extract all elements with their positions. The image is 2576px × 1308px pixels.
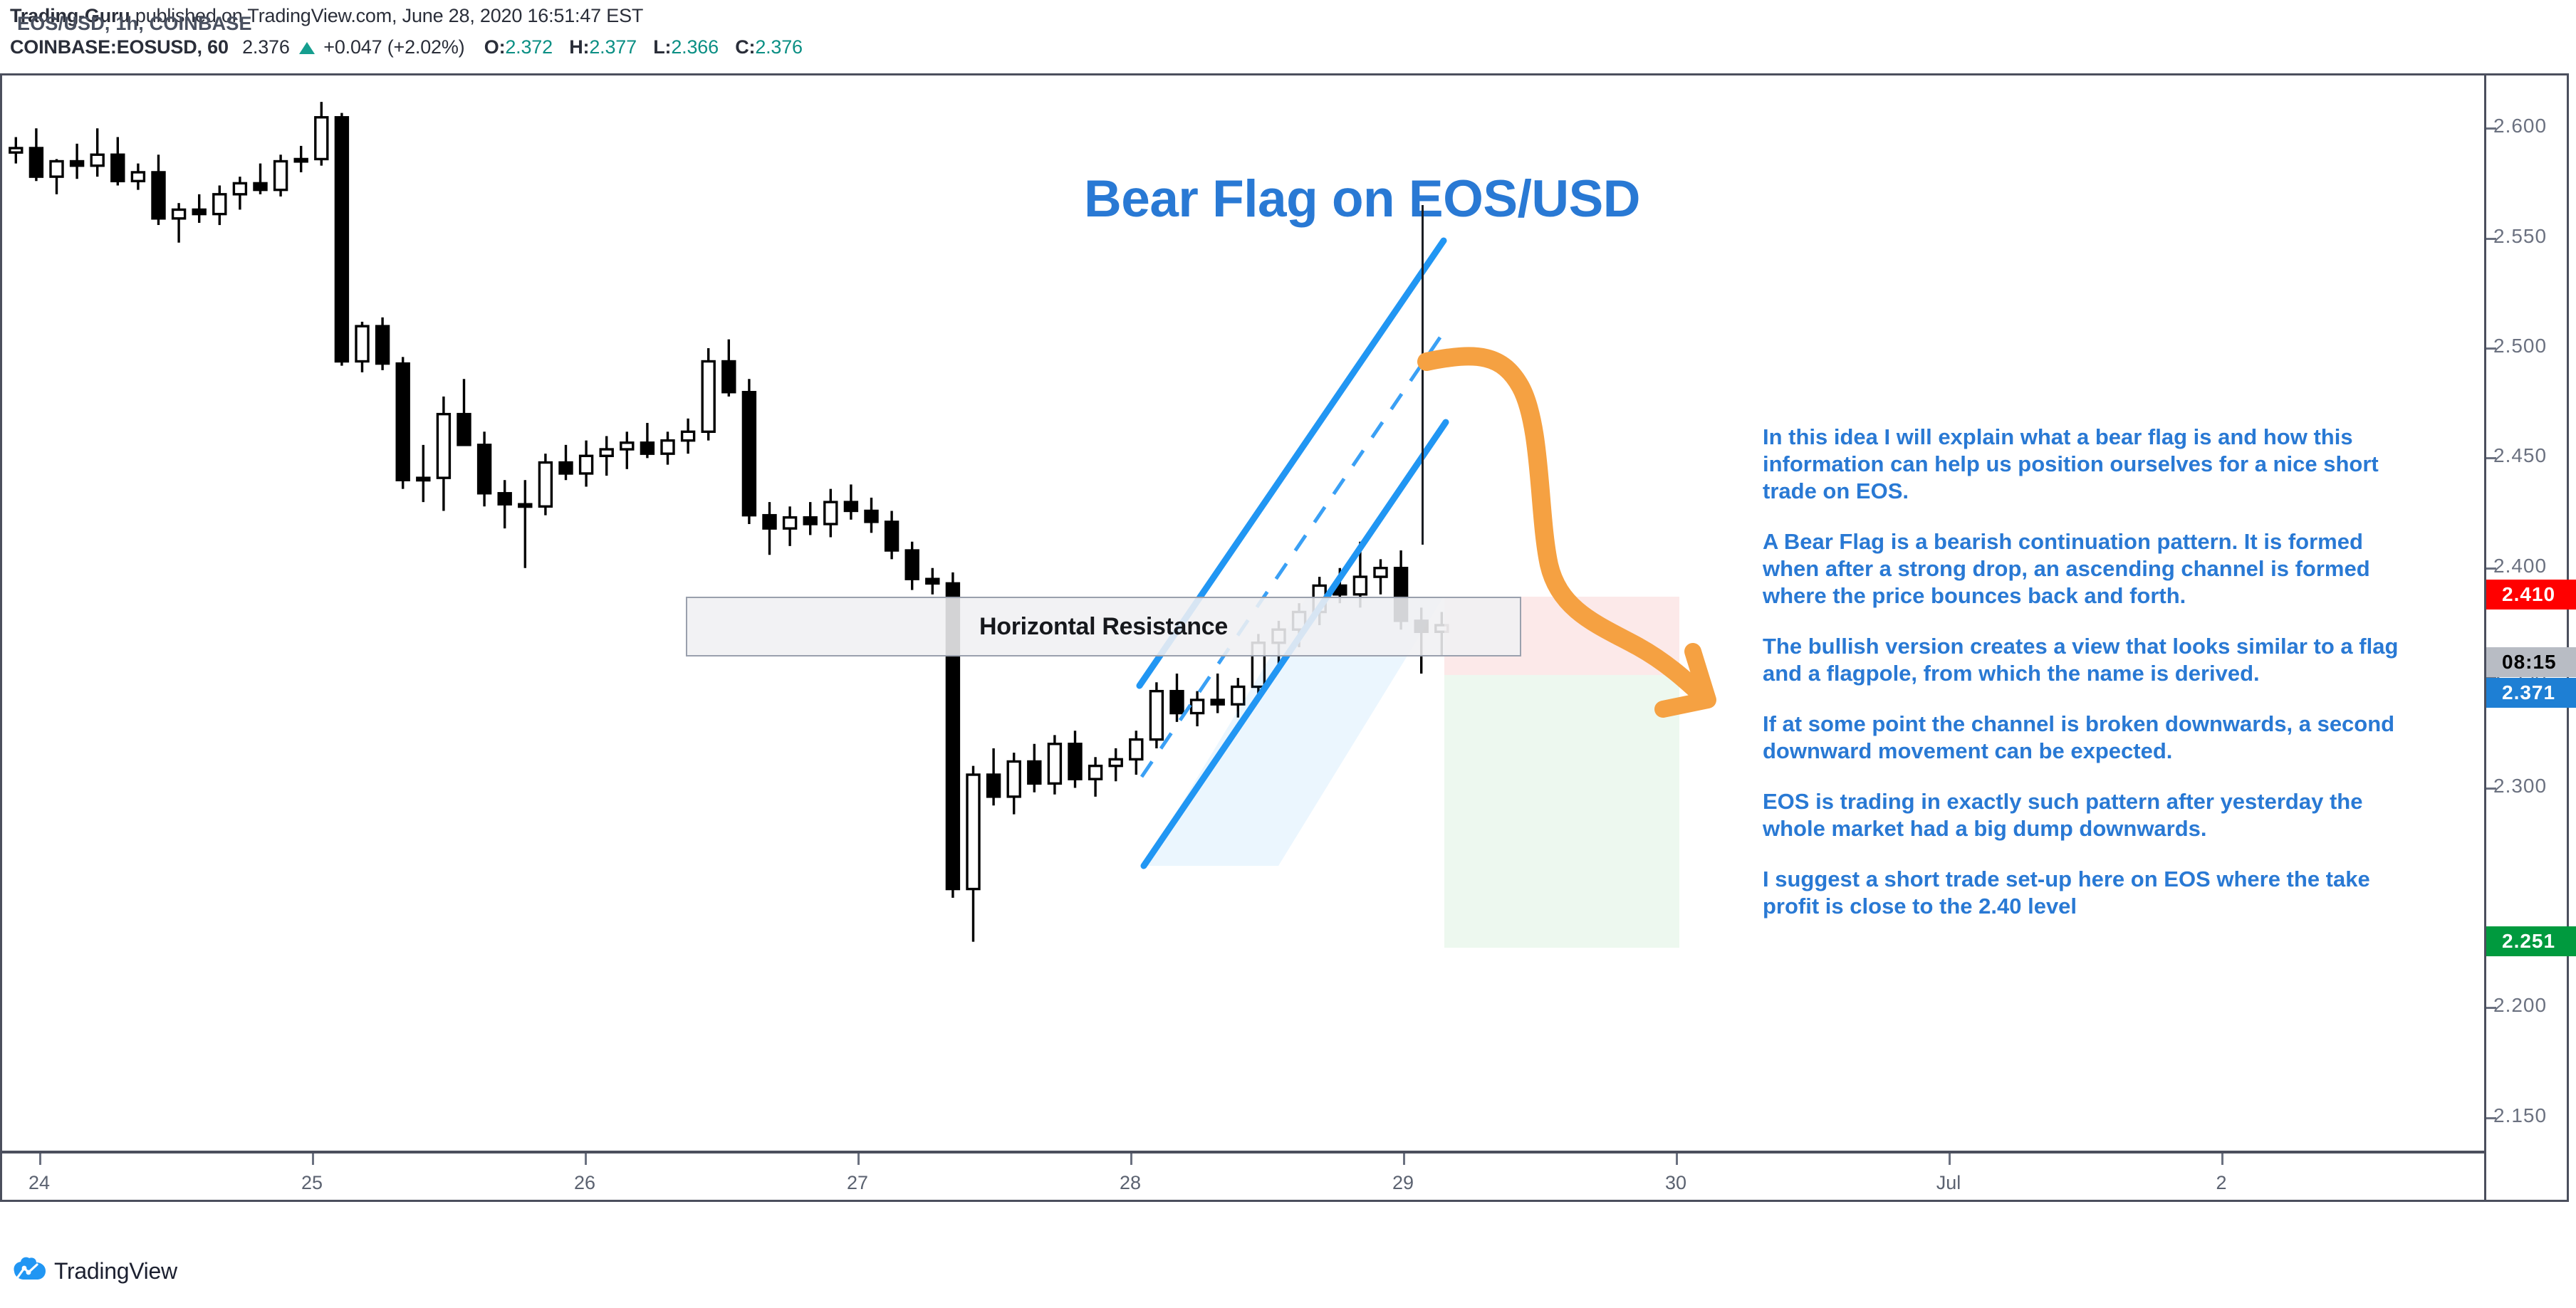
time-tick-label: 30	[1665, 1172, 1686, 1194]
time-tick-label: 29	[1392, 1172, 1414, 1194]
chart-legend: EOS/USD, 1h, COINBASE	[17, 13, 252, 35]
high-value: 2.377	[589, 36, 637, 58]
price-tick-label: 2.550	[2493, 225, 2547, 248]
time-tick-label: 26	[574, 1172, 595, 1194]
price-change: +0.047 (+2.02%)	[323, 36, 464, 58]
price-tick-label: 2.150	[2493, 1104, 2547, 1127]
note-paragraph: If at some point the channel is broken d…	[1763, 711, 2404, 765]
price-tick-label: 2.300	[2493, 775, 2547, 797]
low-value: 2.366	[671, 36, 719, 58]
note-paragraph: The bullish version creates a view that …	[1763, 633, 2404, 687]
time-tick-label: 2	[2216, 1172, 2226, 1194]
time-tick-label: Jul	[1936, 1172, 1961, 1194]
last-price: 2.376	[242, 36, 290, 58]
time-tick	[585, 1153, 587, 1165]
time-axis[interactable]: 24252627282930Jul2	[0, 1151, 2484, 1202]
price-tick-label: 2.200	[2493, 994, 2547, 1017]
low-label: L:	[653, 36, 671, 58]
time-tick-label: 25	[301, 1172, 323, 1194]
idea-description-text: In this idea I will explain what a bear …	[1763, 424, 2404, 943]
price-tick-label: 2.500	[2493, 335, 2547, 357]
price-tick-label: 2.400	[2493, 555, 2547, 577]
target-level-badge[interactable]: 2.251	[2486, 926, 2576, 956]
time-badge-badge[interactable]: 08:15	[2486, 647, 2576, 677]
note-paragraph: In this idea I will explain what a bear …	[1763, 424, 2404, 505]
price-axis[interactable]: 2.6002.5502.5002.4502.4002.3502.3002.200…	[2484, 73, 2574, 1202]
tradingview-footer[interactable]: TradingView	[13, 1257, 177, 1285]
time-tick	[1949, 1153, 1951, 1165]
current-price-badge[interactable]: 2.371	[2486, 678, 2576, 708]
close-label: C:	[735, 36, 755, 58]
time-tick-label: 28	[1120, 1172, 1141, 1194]
time-tick-label: 24	[28, 1172, 50, 1194]
time-tick	[857, 1153, 860, 1165]
horizontal-resistance-label: Horizontal Resistance	[686, 597, 1521, 656]
symbol-quote-bar: COINBASE:EOSUSD, 60 2.376 +0.047 (+2.02%…	[10, 36, 803, 58]
note-paragraph: A Bear Flag is a bearish continuation pa…	[1763, 528, 2404, 609]
symbol-label: COINBASE:EOSUSD, 60	[10, 36, 229, 58]
time-tick	[39, 1153, 41, 1165]
close-value: 2.376	[755, 36, 803, 58]
time-tick-label: 27	[847, 1172, 868, 1194]
time-tick	[312, 1153, 314, 1165]
price-tick-label: 2.600	[2493, 115, 2547, 137]
tradingview-wordmark: TradingView	[54, 1258, 177, 1285]
time-tick	[1130, 1153, 1132, 1165]
high-label: H:	[569, 36, 589, 58]
time-tick	[1676, 1153, 1678, 1165]
price-tick-label: 2.450	[2493, 444, 2547, 467]
time-tick	[1403, 1153, 1405, 1165]
note-paragraph: EOS is trading in exactly such pattern a…	[1763, 788, 2404, 842]
time-tick	[2221, 1153, 2223, 1165]
open-label: O:	[484, 36, 506, 58]
open-value: 2.372	[505, 36, 553, 58]
note-paragraph: I suggest a short trade set-up here on E…	[1763, 866, 2404, 920]
up-arrow-icon	[299, 42, 315, 54]
resistance-level-badge[interactable]: 2.410	[2486, 580, 2576, 609]
tradingview-cloud-icon	[13, 1257, 46, 1285]
